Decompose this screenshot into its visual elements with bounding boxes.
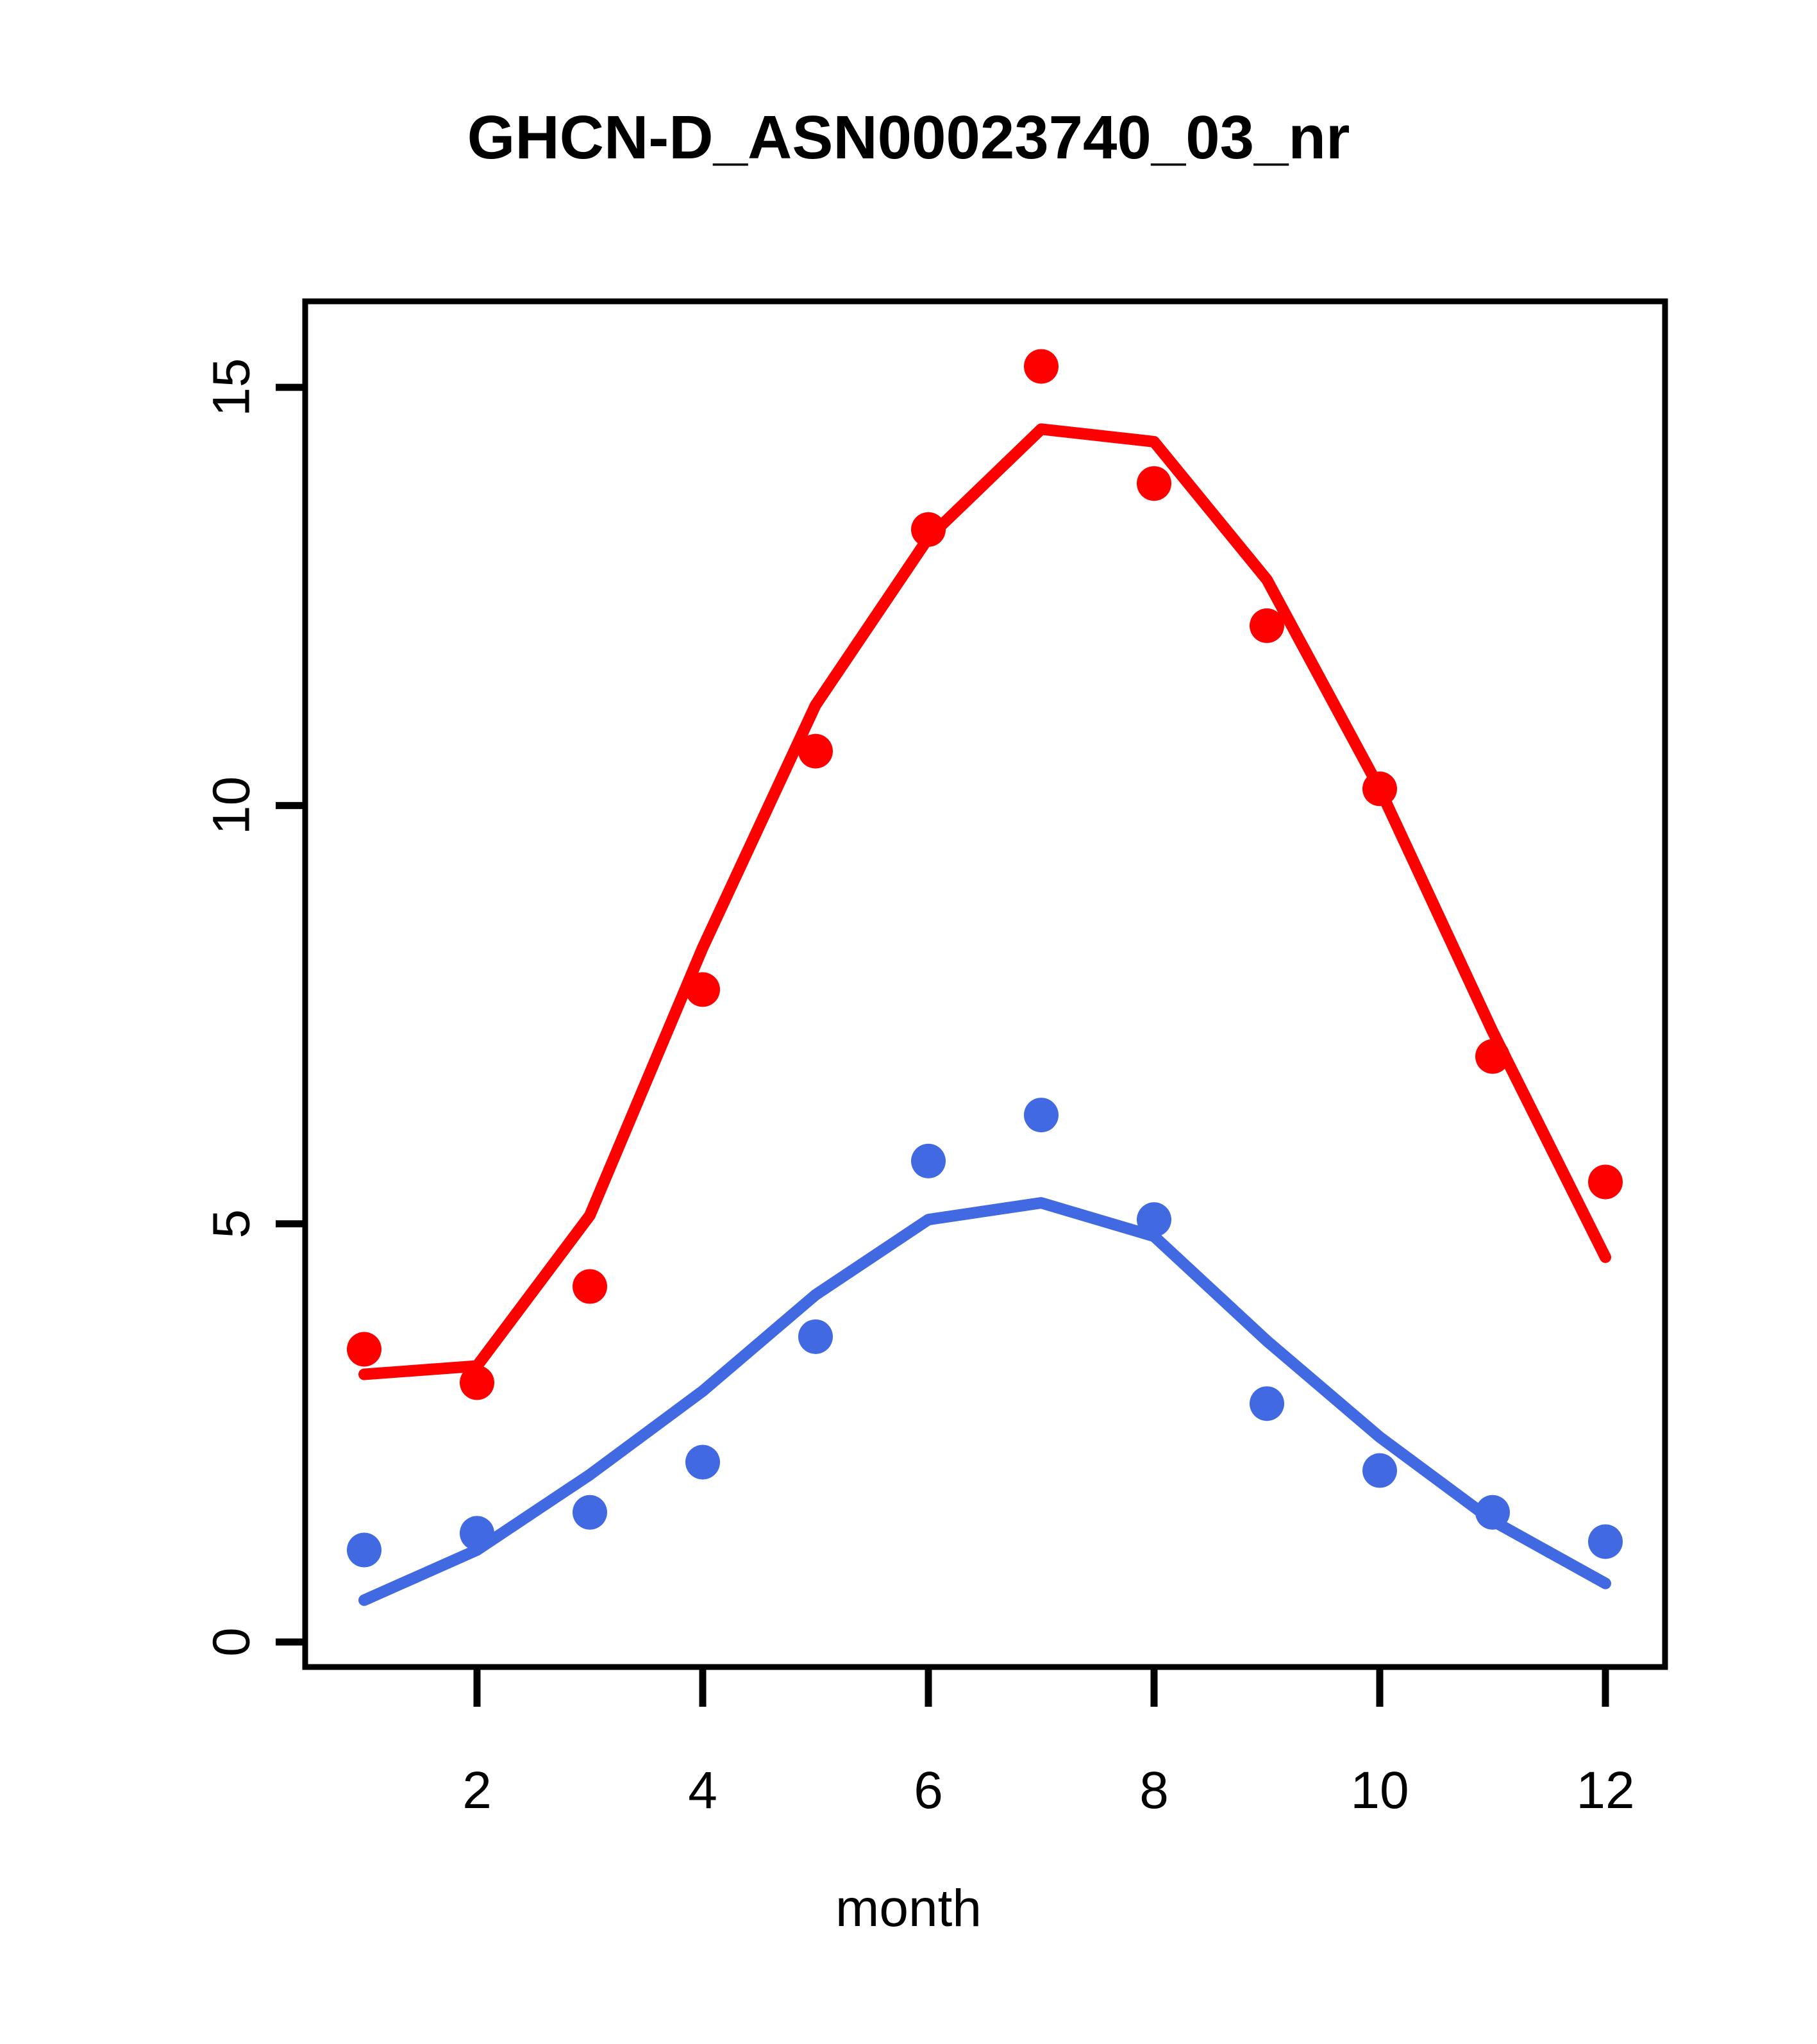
- data-point: [1362, 1453, 1397, 1488]
- data-point: [685, 1445, 720, 1480]
- series-points-min-points: [347, 1098, 1623, 1567]
- x-axis-tick-label: 4: [688, 1761, 717, 1820]
- y-axis-tick-label: 0: [203, 1627, 261, 1657]
- x-axis-tick-label: 12: [1576, 1761, 1634, 1820]
- x-axis-tick-label: 10: [1350, 1761, 1409, 1820]
- data-point: [347, 1332, 381, 1366]
- data-point: [1588, 1524, 1623, 1559]
- x-axis-tick-label: 2: [462, 1761, 492, 1820]
- series-line-max-fit: [364, 429, 1605, 1374]
- plot-frame: [305, 301, 1665, 1667]
- data-point: [798, 1319, 833, 1354]
- data-point: [1024, 1098, 1059, 1132]
- y-axis-tick-label: 15: [203, 358, 261, 416]
- data-point: [1588, 1164, 1623, 1199]
- data-point: [1024, 349, 1059, 383]
- series-points-max-points: [347, 349, 1623, 1400]
- x-axis-tick-label: 8: [1139, 1761, 1169, 1820]
- y-axis-tick-label: 10: [203, 776, 261, 835]
- chart-figure: GHCN-D_ASN00023740_03_nr 05101524681012 …: [0, 0, 1817, 2044]
- line-chart-plot: 05101524681012: [0, 0, 1817, 2044]
- data-point: [1137, 466, 1171, 501]
- data-point: [1250, 1386, 1284, 1421]
- y-axis-tick-label: 5: [203, 1209, 261, 1239]
- x-axis-tick-label: 6: [914, 1761, 943, 1820]
- data-point: [911, 1144, 946, 1178]
- data-point: [347, 1532, 381, 1567]
- x-axis-label: month: [0, 1879, 1817, 1939]
- data-point: [573, 1269, 607, 1304]
- data-point: [573, 1495, 607, 1530]
